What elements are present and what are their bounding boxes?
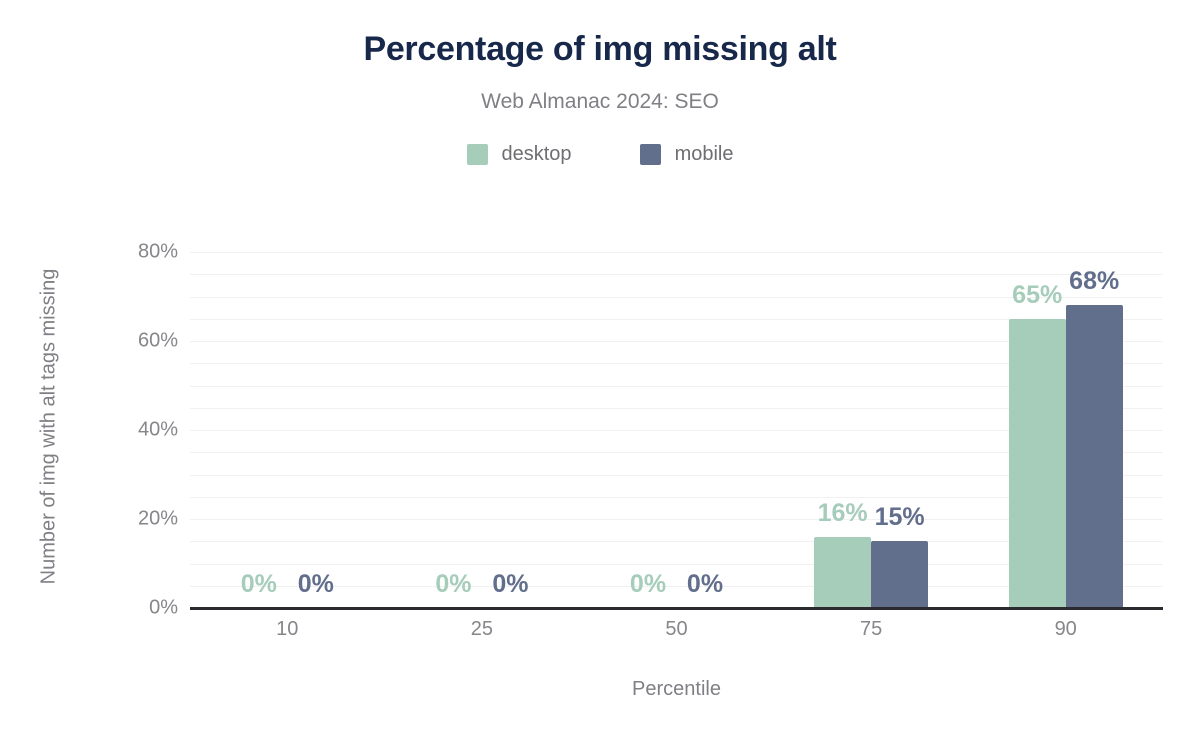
x-axis-tick-label: 25 [471,618,493,641]
value-label-mobile-p10: 0% [298,570,334,599]
gridline [190,274,1163,275]
value-label-desktop-p90: 65% [1012,281,1062,310]
legend-item-mobile[interactable]: mobile [640,143,734,166]
value-label-desktop-p50: 0% [630,570,666,599]
x-axis-tick-label: 75 [860,618,882,641]
value-label-mobile-p90: 68% [1069,267,1119,296]
value-label-mobile-p75: 15% [875,503,925,532]
bar-mobile-p75[interactable] [871,541,928,608]
y-axis-title: Number of img with alt tags missing [38,232,61,622]
x-axis-tick-label: 90 [1055,618,1077,641]
legend-item-desktop[interactable]: desktop [467,143,572,166]
y-axis-tick-label: 60% [138,330,178,353]
bar-desktop-p75[interactable] [814,537,871,608]
x-axis-line [190,607,1163,610]
bar-desktop-p90[interactable] [1009,319,1066,608]
gridline [190,252,1163,253]
value-label-desktop-p75: 16% [818,499,868,528]
chart-legend: desktop mobile [0,143,1200,166]
value-label-mobile-p25: 0% [492,570,528,599]
plot-area: 0%0%0%0%0%0%16%15%65%68% [190,252,1163,608]
value-label-desktop-p10: 0% [241,570,277,599]
y-axis-tick-label: 20% [138,508,178,531]
x-axis-tick-label: 10 [276,618,298,641]
value-label-mobile-p50: 0% [687,570,723,599]
x-axis-tick-label: 50 [665,618,687,641]
legend-label-desktop: desktop [502,143,572,166]
y-axis-tick-labels: 0%20%40%60%80% [100,0,178,742]
chart-subtitle: Web Almanac 2024: SEO [0,90,1200,114]
chart-title: Percentage of img missing alt [0,30,1200,69]
legend-swatch-mobile [640,144,661,165]
legend-label-mobile: mobile [675,143,734,166]
y-axis-tick-label: 0% [149,597,178,620]
y-axis-tick-label: 40% [138,419,178,442]
bar-mobile-p90[interactable] [1066,305,1123,608]
y-axis-tick-label: 80% [138,241,178,264]
legend-swatch-desktop [467,144,488,165]
x-axis-title: Percentile [190,678,1163,701]
value-label-desktop-p25: 0% [435,570,471,599]
